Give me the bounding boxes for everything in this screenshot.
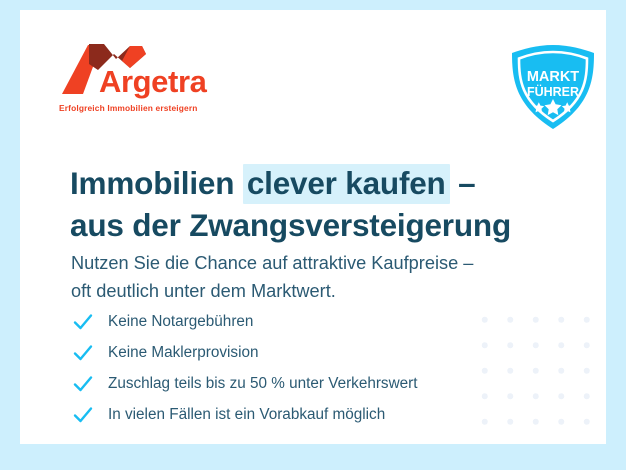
headline-line2: aus der Zwangsversteigerung (70, 207, 511, 243)
badge-line1: MARKT (527, 69, 579, 85)
list-item: Keine Maklerprovision (72, 337, 542, 368)
subheading-line1: Nutzen Sie die Chance auf attraktive Kau… (71, 253, 473, 273)
badge-line2: FÜHRER (527, 84, 579, 99)
check-icon (72, 404, 94, 426)
market-leader-badge: MARKT FÜHRER (507, 43, 599, 131)
check-icon (72, 311, 94, 333)
headline-line1-before: Immobilien (70, 165, 243, 201)
list-item: Keine Notargebühren (72, 306, 542, 337)
subheading-line2: oft deutlich unter dem Marktwert. (71, 281, 336, 301)
page-title: Immobilien clever kaufen – aus der Zwang… (70, 163, 570, 246)
check-icon (72, 373, 94, 395)
list-item-label: Keine Maklerprovision (108, 345, 259, 360)
headline-highlight: clever kaufen (243, 164, 450, 204)
list-item-label: Zuschlag teils bis zu 50 % unter Verkehr… (108, 376, 417, 391)
list-item-label: Keine Notargebühren (108, 314, 253, 329)
argetra-logo[interactable]: Argetra Erfolgreich Immobilien ersteiger… (56, 42, 236, 120)
benefits-list: Keine Notargebühren Keine Maklerprovisio… (72, 306, 542, 430)
subheading: Nutzen Sie die Chance auf attraktive Kau… (71, 250, 571, 305)
list-item-label: In vielen Fällen ist ein Vorabkauf mögli… (108, 407, 385, 422)
list-item: Zuschlag teils bis zu 50 % unter Verkehr… (72, 368, 542, 399)
list-item: In vielen Fällen ist ein Vorabkauf mögli… (72, 399, 542, 430)
headline-line1-after: – (450, 165, 476, 201)
logo-wordmark: Argetra (99, 66, 206, 97)
promo-card: Argetra Erfolgreich Immobilien ersteiger… (20, 10, 606, 444)
logo-tagline: Erfolgreich Immobilien ersteigern (59, 103, 198, 113)
check-icon (72, 342, 94, 364)
card-header: Argetra Erfolgreich Immobilien ersteiger… (20, 10, 606, 130)
